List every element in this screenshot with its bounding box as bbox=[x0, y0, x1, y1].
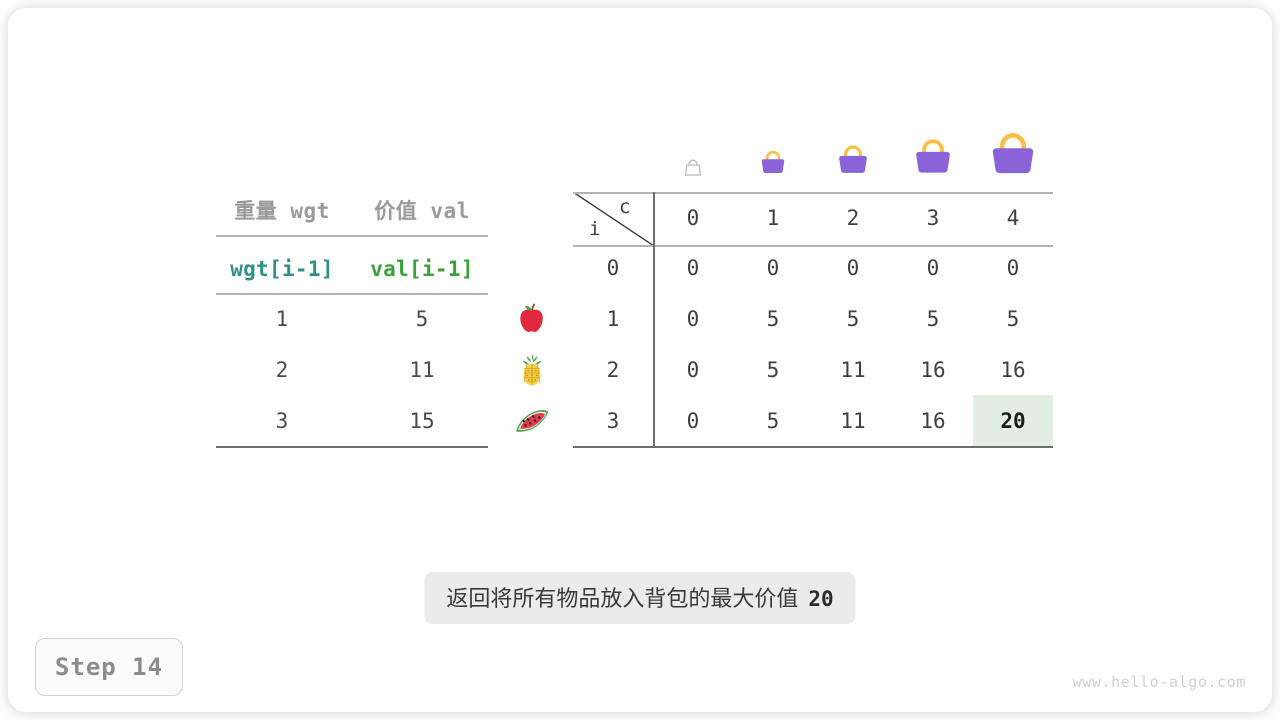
dp-table: c i 0 1 2 3 4 0 1 2 3 0 0 0 0 0 0 5 5 5 … bbox=[573, 192, 1053, 448]
dp-cell-1-3: 5 bbox=[893, 304, 973, 334]
dp-cell-1-0: 0 bbox=[653, 304, 733, 334]
items-rule-mid bbox=[216, 293, 488, 295]
items-header-value: 价值 val bbox=[356, 196, 488, 226]
watermelon-icon bbox=[512, 401, 552, 441]
dp-cell-3-2: 11 bbox=[813, 406, 893, 436]
figure-canvas: 重量 wgt 价值 val wgt[i-1] val[i-1] 1 5 2 11… bbox=[0, 0, 1280, 720]
items-rule-bottom bbox=[216, 446, 488, 448]
dp-cell-2-3: 16 bbox=[893, 355, 973, 385]
dp-cell-3-3: 16 bbox=[893, 406, 973, 436]
dp-corner-header: c i bbox=[573, 192, 655, 247]
items-header-weight: 重量 wgt bbox=[216, 196, 348, 226]
dp-cell-3-0: 0 bbox=[653, 406, 733, 436]
items-subheader-value: val[i-1] bbox=[356, 254, 488, 284]
items-row-2-weight: 3 bbox=[216, 406, 348, 436]
result-caption: 返回将所有物品放入背包的最大价值20 bbox=[424, 572, 855, 624]
dp-cell-2-4: 16 bbox=[973, 355, 1053, 385]
dp-cell-2-1: 5 bbox=[733, 355, 813, 385]
result-caption-value: 20 bbox=[808, 587, 833, 611]
apple-icon bbox=[512, 299, 552, 339]
dp-cell-0-0: 0 bbox=[653, 253, 733, 283]
items-table: 重量 wgt 价值 val wgt[i-1] val[i-1] 1 5 2 11… bbox=[216, 190, 488, 448]
bag-icon-capacity-3 bbox=[911, 135, 956, 180]
dp-cell-0-2: 0 bbox=[813, 253, 893, 283]
dp-cell-3-1: 5 bbox=[733, 406, 813, 436]
dp-row-header-2: 2 bbox=[573, 355, 653, 385]
dp-rule-bottom bbox=[573, 446, 1053, 448]
dp-cell-1-2: 5 bbox=[813, 304, 893, 334]
items-row-0-value: 5 bbox=[356, 304, 488, 334]
dp-col-header-4: 4 bbox=[973, 203, 1053, 233]
dp-corner-label-i: i bbox=[589, 218, 600, 240]
dp-cell-3-4: 20 bbox=[973, 406, 1053, 436]
dp-cell-0-3: 0 bbox=[893, 253, 973, 283]
dp-row-header-0: 0 bbox=[573, 253, 653, 283]
dp-col-header-3: 3 bbox=[893, 203, 973, 233]
pineapple-icon bbox=[512, 350, 552, 390]
items-row-0-weight: 1 bbox=[216, 304, 348, 334]
bag-icon-capacity-4 bbox=[986, 128, 1040, 182]
dp-cell-1-4: 5 bbox=[973, 304, 1053, 334]
watermark: www.hello-algo.com bbox=[1073, 673, 1246, 691]
step-badge-label: Step 14 bbox=[55, 653, 163, 681]
dp-row-header-1: 1 bbox=[573, 304, 653, 334]
step-badge: Step 14 bbox=[35, 638, 183, 696]
dp-corner-label-c: c bbox=[619, 196, 630, 218]
items-row-2-value: 15 bbox=[356, 406, 488, 436]
items-rule-top bbox=[216, 235, 488, 237]
dp-col-header-2: 2 bbox=[813, 203, 893, 233]
dp-col-header-1: 1 bbox=[733, 203, 813, 233]
items-subheader-weight: wgt[i-1] bbox=[216, 254, 348, 284]
dp-col-header-0: 0 bbox=[653, 203, 733, 233]
bag-icon-capacity-2 bbox=[835, 142, 872, 179]
dp-row-header-3: 3 bbox=[573, 406, 653, 436]
items-row-1-weight: 2 bbox=[216, 355, 348, 385]
dp-rule-top bbox=[573, 192, 1053, 194]
dp-cell-2-2: 11 bbox=[813, 355, 893, 385]
result-caption-text: 返回将所有物品放入背包的最大价值 bbox=[446, 587, 798, 612]
dp-cell-2-0: 0 bbox=[653, 355, 733, 385]
bag-icon-capacity-0 bbox=[682, 158, 704, 180]
dp-cell-0-1: 0 bbox=[733, 253, 813, 283]
dp-rule-header bbox=[573, 245, 1053, 247]
bag-icon-capacity-1 bbox=[758, 148, 788, 178]
items-row-1-value: 11 bbox=[356, 355, 488, 385]
dp-cell-0-4: 0 bbox=[973, 253, 1053, 283]
dp-cell-1-1: 5 bbox=[733, 304, 813, 334]
